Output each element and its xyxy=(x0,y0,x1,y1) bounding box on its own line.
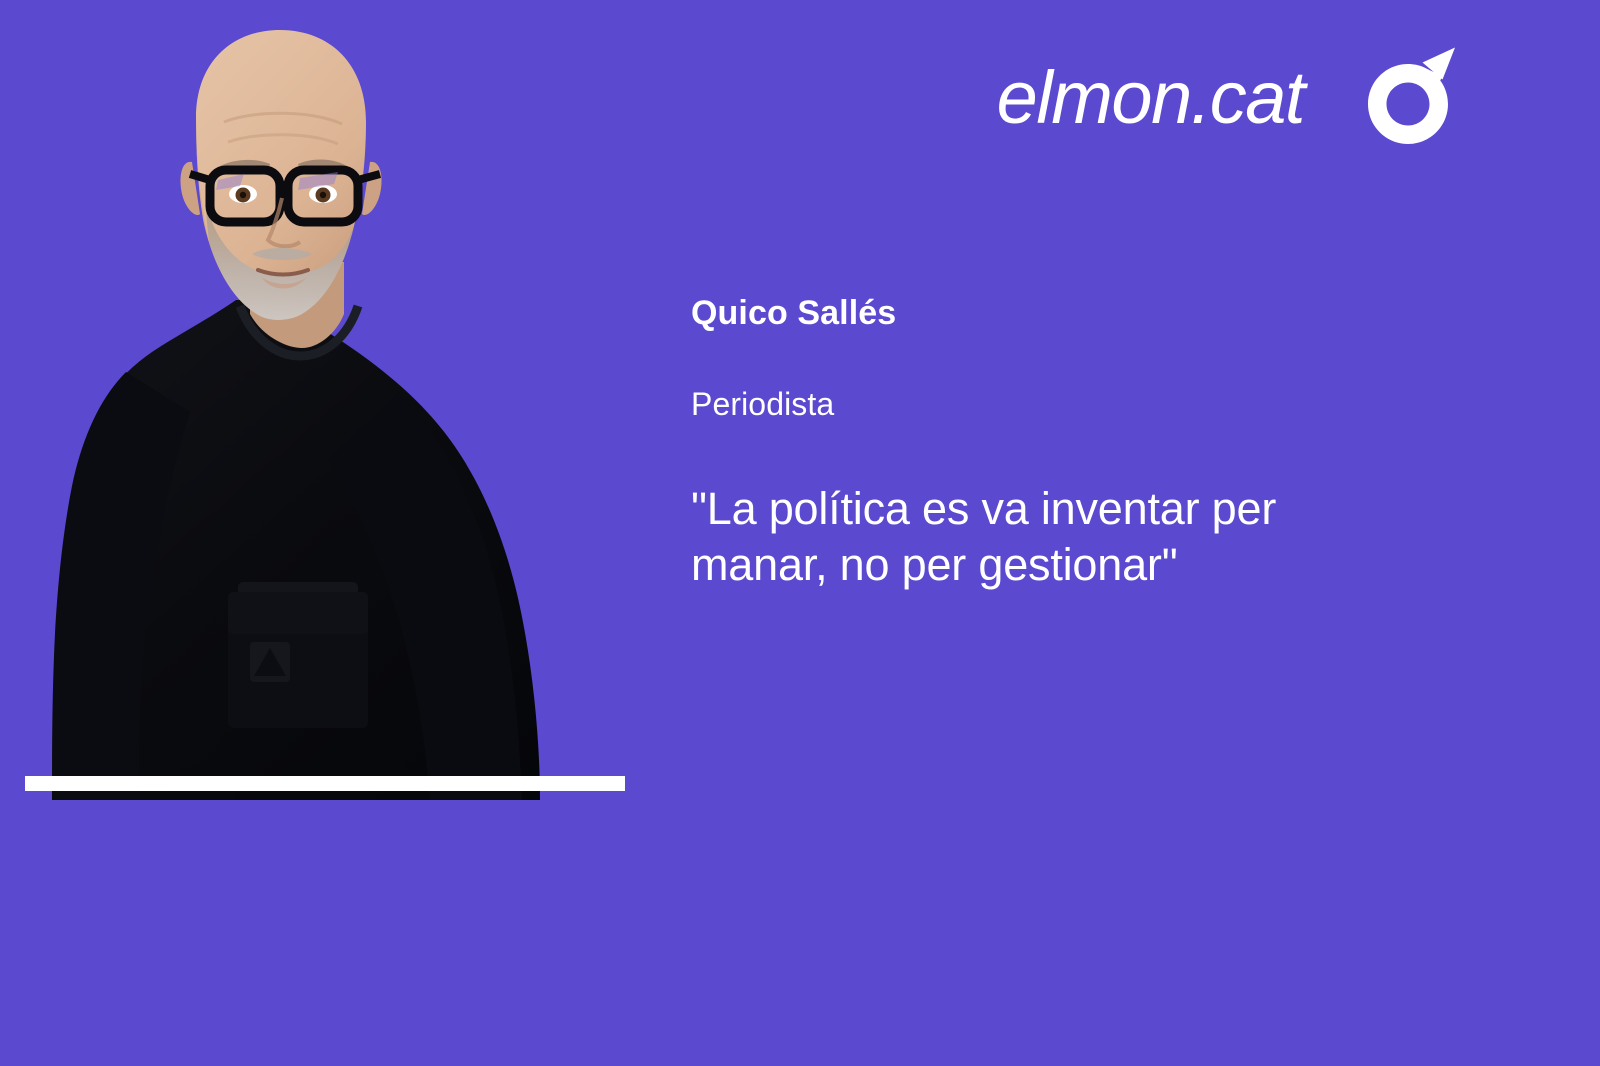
white-rule xyxy=(25,776,625,791)
quote-card: elmon.cat xyxy=(0,0,1600,1066)
text-column: Quico Sallés Periodista "La política es … xyxy=(691,294,1411,593)
person-name: Quico Sallés xyxy=(691,294,1411,332)
elmon-ring-flag-icon xyxy=(1362,46,1458,150)
quote-text: "La política es va inventar per manar, n… xyxy=(691,481,1381,593)
brand-wordmark: elmon.cat xyxy=(997,61,1304,135)
shirt-pocket xyxy=(228,582,368,728)
person-role: Periodista xyxy=(691,387,1411,423)
brand-lockup[interactable]: elmon.cat xyxy=(997,46,1458,150)
portrait-container xyxy=(0,0,660,800)
portrait-photo xyxy=(0,0,660,800)
